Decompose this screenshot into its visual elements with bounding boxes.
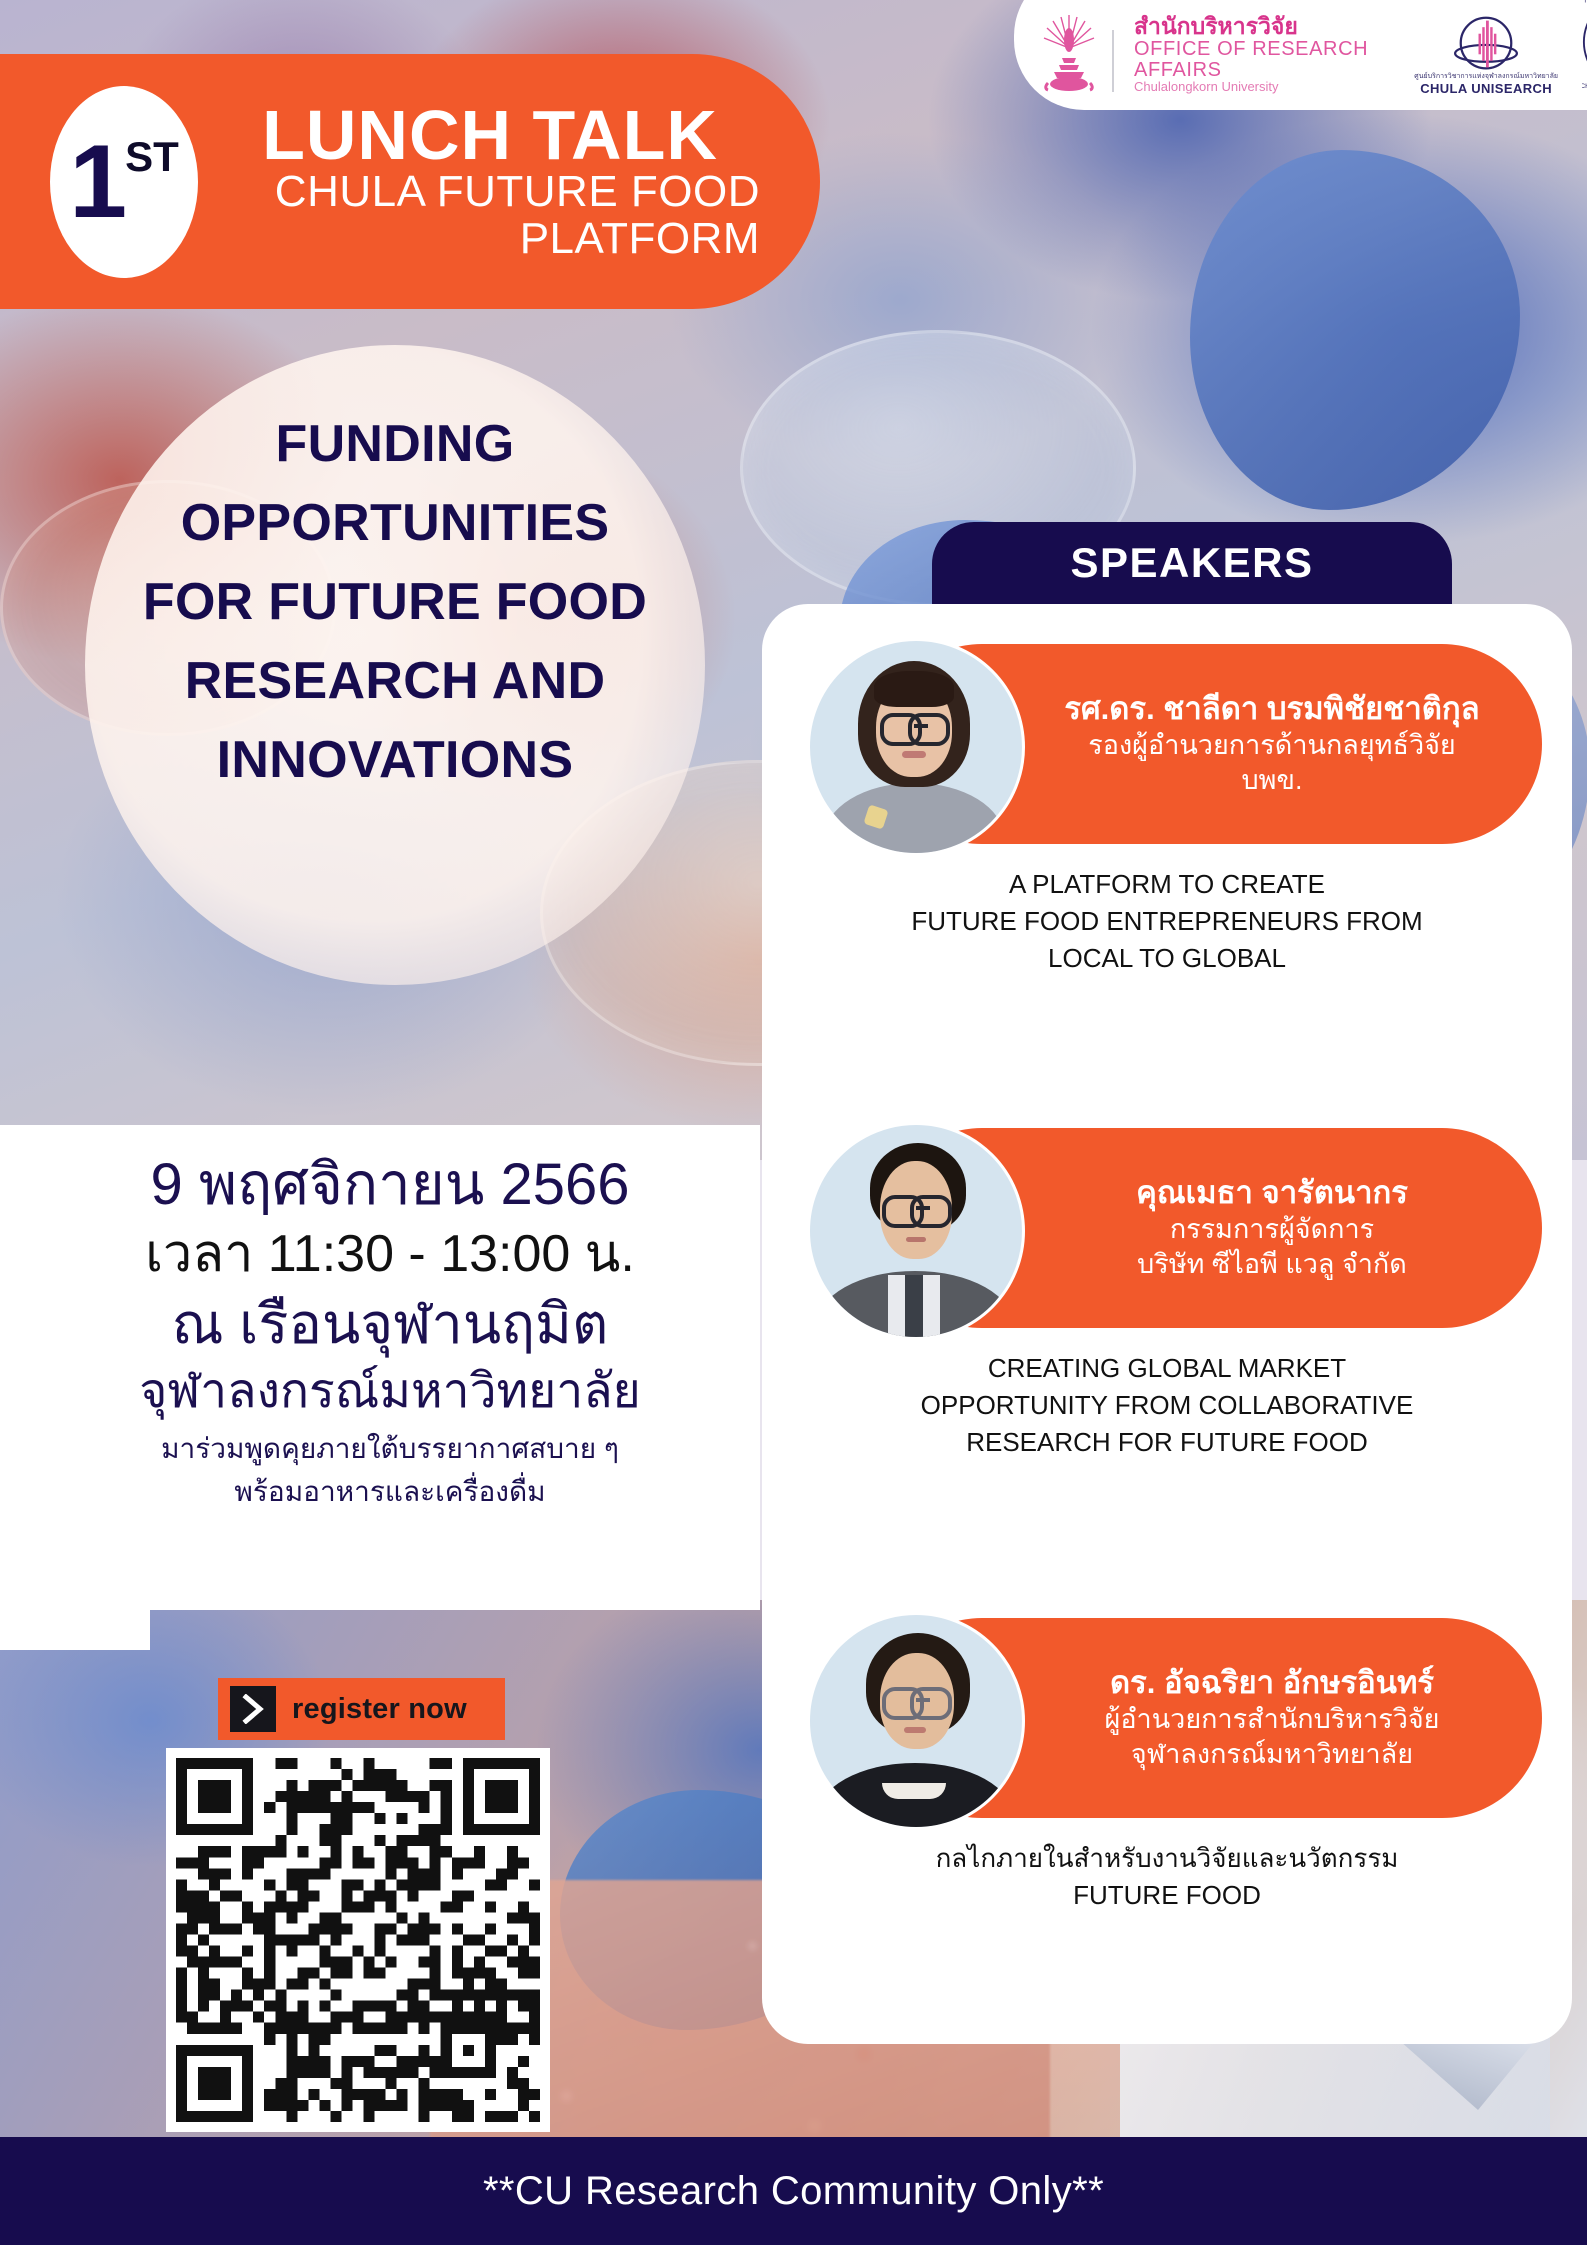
speakers-card: รศ.ดร. ชาลีดา บรมพิชัยชาติกุล รองผู้อำนว… bbox=[762, 604, 1572, 2044]
qr-code-image bbox=[176, 1758, 540, 2122]
event-venue-line2: จุฬาลงกรณ์มหาวิทยาลัย bbox=[60, 1361, 720, 1423]
event-subtitle-line1: CHULA FUTURE FOOD bbox=[228, 169, 760, 216]
register-now-button[interactable]: register now bbox=[218, 1678, 505, 1740]
speaker-role-line1: ผู้อำนวยการสำนักบริหารวิจัย bbox=[1105, 1702, 1440, 1737]
unisearch-emblem-icon bbox=[1448, 15, 1524, 73]
speaker-role-line2: บพข. bbox=[1242, 763, 1303, 798]
event-note-line1: มาร่วมพูดคุยภายใต้บรรยากาศสบาย ๆ bbox=[60, 1430, 720, 1468]
talk-line-2: FUTURE FOOD ENTREPRENEURS FROM bbox=[802, 903, 1532, 940]
speaker-role-line2: บริษัท ซีไอพี แวลู จำกัด bbox=[1137, 1247, 1407, 1282]
event-title: LUNCH TALK bbox=[228, 101, 752, 170]
unisearch-name: CHULA UNISEARCH bbox=[1420, 81, 1552, 96]
talk-line-3: RESEARCH FOR FUTURE FOOD bbox=[802, 1424, 1532, 1461]
headline-line-5: INNOVATIONS bbox=[95, 721, 695, 800]
chula-emblem-icon bbox=[1040, 14, 1098, 96]
registration-qr-code[interactable] bbox=[166, 1748, 550, 2132]
talk-line-1: A PLATFORM TO CREATE bbox=[802, 866, 1532, 903]
speaker-name: ดร. อัจฉริยา อักษรอินทร์ bbox=[1110, 1664, 1434, 1703]
talk-line-1: CREATING GLOBAL MARKET bbox=[802, 1350, 1532, 1387]
ora-university-name: Chulalongkorn University bbox=[1134, 80, 1386, 94]
office-of-research-affairs-logotype: สำนักบริหารวิจัย OFFICE OF RESEARCH AFFA… bbox=[1134, 15, 1386, 96]
speaker-avatar bbox=[807, 1122, 1025, 1340]
chevron-right-icon bbox=[230, 1686, 276, 1732]
halal-science-center-logo: THE HALAL SCIENCE CENTER CHULALONGKORN U… bbox=[1582, 0, 1587, 96]
ora-english-name: OFFICE OF RESEARCH AFFAIRS bbox=[1134, 39, 1386, 81]
speaker-role-line2: จุฬาลงกรณ์มหาวิทยาลัย bbox=[1131, 1737, 1413, 1772]
unisearch-caption: ศูนย์บริการวิชาการแห่งจุฬาลงกรณ์มหาวิทยา… bbox=[1414, 73, 1558, 81]
speakers-section-header: SPEAKERS bbox=[932, 522, 1452, 604]
event-date: 9 พฤศจิกายน 2566 bbox=[60, 1150, 720, 1221]
halal-emblem-icon: THE HALAL SCIENCE CENTER CHULALONGKORN U… bbox=[1582, 0, 1587, 91]
ordinal-badge: 1 ST bbox=[50, 86, 198, 278]
register-now-label: register now bbox=[292, 1693, 467, 1726]
header-banner: 1 ST LUNCH TALK CHULA FUTURE FOOD PLATFO… bbox=[0, 54, 820, 309]
speaker-role-line1: กรรมการผู้จัดการ bbox=[1170, 1212, 1374, 1247]
speaker-talk-title: CREATING GLOBAL MARKET OPPORTUNITY FROM … bbox=[802, 1350, 1532, 1461]
event-subtitle-line2: PLATFORM bbox=[228, 216, 760, 263]
event-time: เวลา 11:30 - 13:00 น. bbox=[60, 1221, 720, 1289]
headline-block: FUNDING OPPORTUNITIES FOR FUTURE FOOD RE… bbox=[95, 405, 695, 800]
speaker-talk-title: กลไกภายในสำหรับงานวิจัยและนวัตกรรม FUTUR… bbox=[802, 1840, 1532, 1914]
headline-line-2: OPPORTUNITIES bbox=[95, 484, 695, 563]
poster-root: 1 ST LUNCH TALK CHULA FUTURE FOOD PLATFO… bbox=[0, 0, 1587, 2245]
speakers-heading-label: SPEAKERS bbox=[1070, 539, 1313, 587]
speaker-name: รศ.ดร. ชาลีดา บรมพิชัยชาติกุล bbox=[1064, 690, 1479, 729]
speaker-talk-title: A PLATFORM TO CREATE FUTURE FOOD ENTREPR… bbox=[802, 866, 1532, 977]
headline-line-4: RESEARCH AND bbox=[95, 642, 695, 721]
logo-divider bbox=[1112, 30, 1114, 92]
svg-text:CHULALONGKORN UNIVERSITY: CHULALONGKORN UNIVERSITY bbox=[1582, 83, 1587, 90]
event-details: 9 พฤศจิกายน 2566 เวลา 11:30 - 13:00 น. ณ… bbox=[60, 1150, 720, 1511]
headline-line-1: FUNDING bbox=[95, 405, 695, 484]
event-venue-line1: ณ เรือนจุฬานฤมิต bbox=[60, 1288, 720, 1361]
svg-text:THE HALAL SCIENCE CENTER: THE HALAL SCIENCE CENTER bbox=[1583, 0, 1587, 4]
speaker-role-line1: รองผู้อำนวยการด้านกลยุทธ์วิจัย bbox=[1088, 728, 1456, 763]
talk-line-3: LOCAL TO GLOBAL bbox=[802, 940, 1532, 977]
speaker-name: คุณเมธา จารัตนากร bbox=[1136, 1174, 1408, 1213]
speaker-avatar bbox=[807, 1612, 1025, 1830]
chula-unisearch-logo: ศูนย์บริการวิชาการแห่งจุฬาลงกรณ์มหาวิทยา… bbox=[1414, 15, 1558, 96]
talk-line-1: กลไกภายในสำหรับงานวิจัยและนวัตกรรม bbox=[802, 1840, 1532, 1877]
talk-line-2: FUTURE FOOD bbox=[802, 1877, 1532, 1914]
headline-line-3: FOR FUTURE FOOD bbox=[95, 563, 695, 642]
white-panel bbox=[0, 1590, 150, 1650]
logo-bar: สำนักบริหารวิจัย OFFICE OF RESEARCH AFFA… bbox=[1014, 0, 1587, 110]
speaker-avatar bbox=[807, 638, 1025, 856]
footer-note: **CU Research Community Only** bbox=[483, 2169, 1104, 2214]
ordinal-suffix: ST bbox=[125, 136, 179, 178]
ordinal-number: 1 bbox=[69, 130, 125, 234]
talk-line-2: OPPORTUNITY FROM COLLABORATIVE bbox=[802, 1387, 1532, 1424]
event-note-line2: พร้อมอาหารและเครื่องดื่ม bbox=[60, 1473, 720, 1511]
footer-bar: **CU Research Community Only** bbox=[0, 2137, 1587, 2245]
ora-thai-name: สำนักบริหารวิจัย bbox=[1134, 15, 1386, 39]
